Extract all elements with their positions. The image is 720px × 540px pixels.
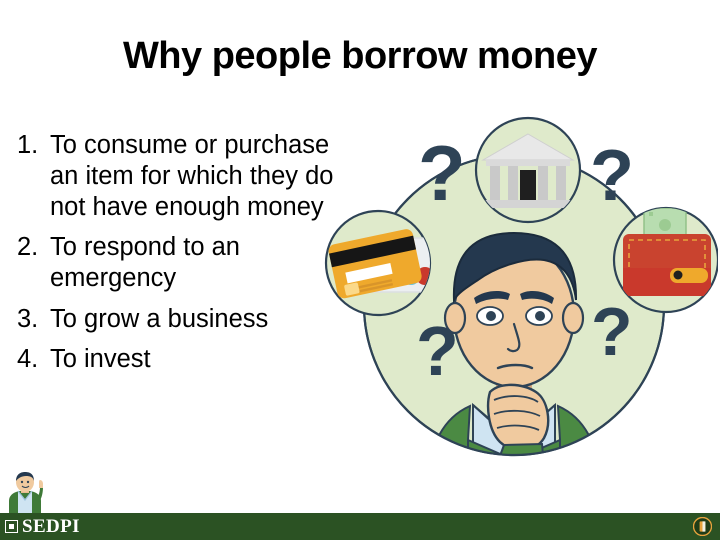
sedpi-logo-text: SEDPI (22, 517, 80, 536)
list-item: 3. To grow a business (10, 304, 340, 335)
list-item: 2. To respond to an emergency (10, 232, 340, 294)
list-item: 4. To invest (10, 344, 340, 375)
page-title: Why people borrow money (40, 36, 680, 78)
list-item-label: To grow a business (50, 304, 340, 335)
wallet-money-icon (614, 208, 718, 312)
svg-text:?: ? (590, 136, 634, 216)
list-item-number: 1. (10, 130, 50, 161)
sedpi-logo-mark-icon (5, 520, 18, 533)
slide: Why people borrow money 1. To consume or… (0, 0, 720, 540)
list-item-number: 3. (10, 304, 50, 335)
svg-text:?: ? (591, 294, 633, 370)
list-item-label: To invest (50, 344, 340, 375)
footer-bar: SEDPI (0, 513, 720, 540)
list-item-label: To respond to an emergency (50, 232, 340, 294)
reasons-list: 1. To consume or purchase an item for wh… (10, 130, 340, 384)
list-item: 1. To consume or purchase an item for wh… (10, 130, 340, 223)
list-item-number: 4. (10, 344, 50, 375)
list-item-label: To consume or purchase an item for which… (50, 130, 340, 223)
mascot-avatar (4, 471, 50, 513)
list-item-number: 2. (10, 232, 50, 263)
question-mark-icon: ? (591, 294, 633, 370)
bank-building-icon (476, 118, 580, 222)
borrowing-illustration: ? ? ? ? (318, 100, 718, 490)
question-mark-icon: ? (590, 136, 634, 216)
creative-commons-badge-icon (693, 517, 712, 536)
sedpi-logo: SEDPI (5, 516, 80, 537)
